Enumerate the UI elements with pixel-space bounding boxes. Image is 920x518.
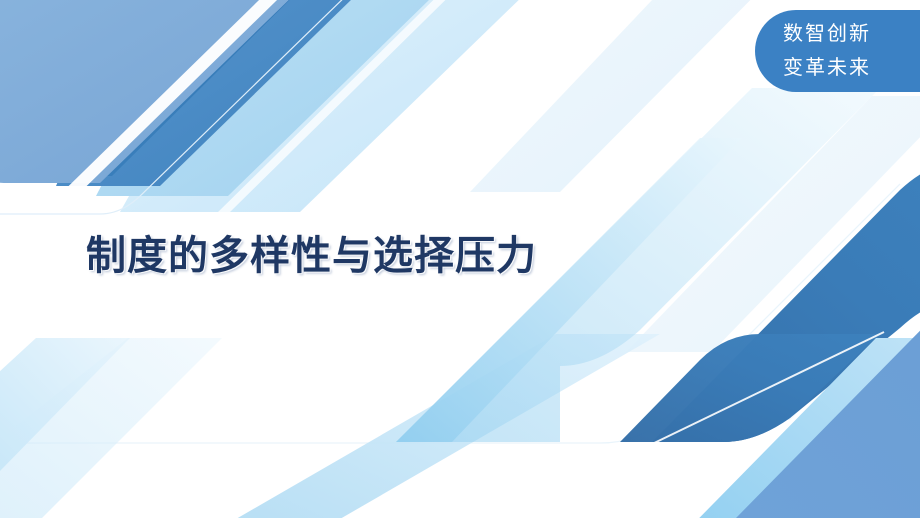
slide-title: 制度的多样性与选择压力 — [86, 228, 537, 284]
brand-slogan-badge: 数智创新 变革未来 — [755, 10, 920, 92]
brand-slogan-line-2: 变革未来 — [783, 51, 912, 85]
brand-slogan-line-1: 数智创新 — [783, 17, 912, 51]
slide-canvas: 数智创新 变革未来 制度的多样性与选择压力 — [0, 0, 920, 518]
